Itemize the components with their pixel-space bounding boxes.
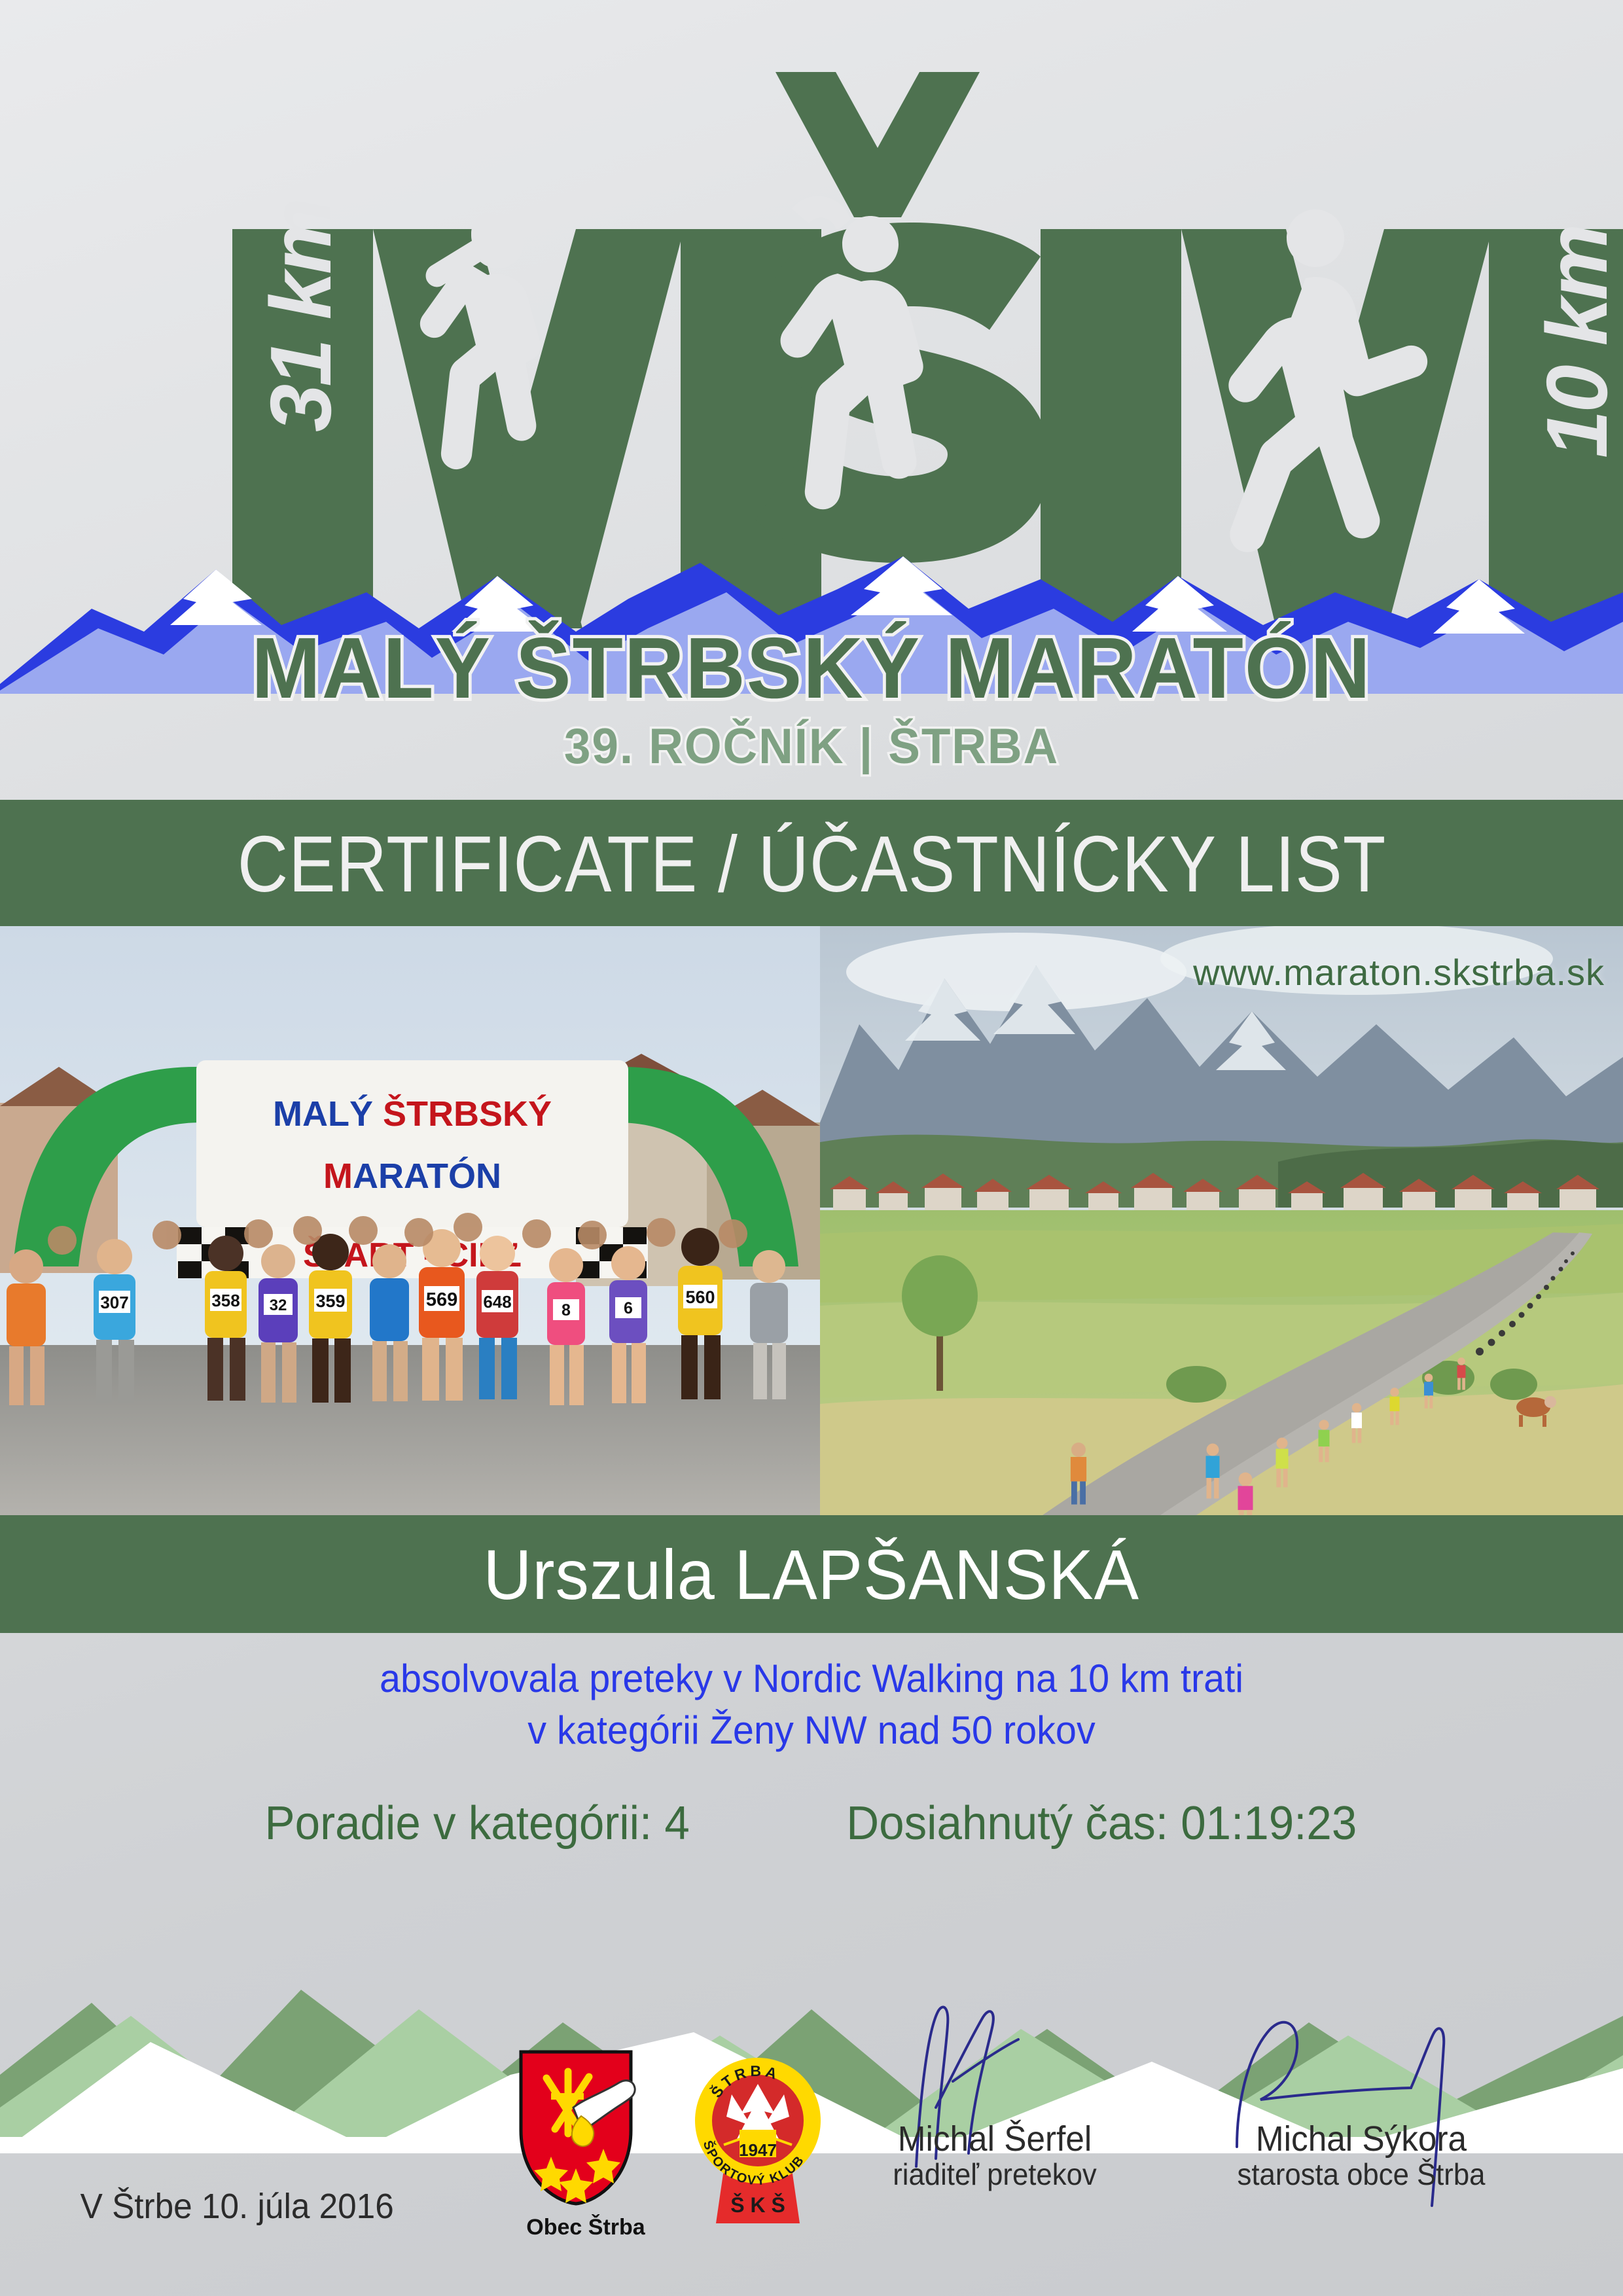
logo-title-sub: 39. ROČNÍK | ŠTRBA [33, 721, 1591, 773]
svg-text:10 km: 10 km [1529, 226, 1623, 458]
logo-title-main: MALÝ ŠTRBSKÝ MARATÓN [33, 625, 1591, 711]
club-abbr: Š K Š [730, 2193, 785, 2217]
sports-club-emblem: ŠTRBA ŠPORTOVÝ KLUB 1947 Š K Š [686, 2043, 836, 2230]
event-logo: 31 km 10 km [0, 0, 1623, 785]
svg-text:358: 358 [211, 1291, 240, 1310]
signature-role-mayor: starosta obce Štrba [1212, 2158, 1510, 2191]
photo-race-start: MALÝ ŠTRBSKÝ MARATÓN ŠTART - CIEĽ [0, 926, 820, 1515]
participant-name-band: Urszula LAPŠANSKÁ [0, 1515, 1623, 1633]
logo-letter-s-middle [755, 72, 1050, 563]
svg-text:6: 6 [624, 1299, 633, 1318]
achievement-line-2: v kategórii Ženy NW nad 50 rokov [33, 1704, 1591, 1756]
logo-title: MALÝ ŠTRBSKÝ MARATÓN 39. ROČNÍK | ŠTRBA [0, 625, 1623, 773]
svg-text:MALÝ ŠTRBSKÝ: MALÝ ŠTRBSKÝ [273, 1094, 552, 1134]
signature-block-director: Michal Šerfel riaditeľ pretekov [851, 2121, 1139, 2191]
svg-text:307: 307 [100, 1293, 128, 1312]
signature-name-mayor: Michal Sýkora [1212, 2121, 1510, 2158]
issue-date: V Štrbe 10. júla 2016 [80, 2186, 394, 2227]
svg-text:31 km: 31 km [253, 200, 349, 432]
finish-time: Dosiahnutý čas: 01:19:23 [846, 1797, 1357, 1850]
signature-block-mayor: Michal Sýkora starosta obce Štrba [1204, 2121, 1518, 2191]
achievement-text: absolvovala preteky v Nordic Walking na … [0, 1653, 1623, 1756]
svg-text:569: 569 [426, 1289, 457, 1310]
svg-text:MARATÓN: MARATÓN [323, 1157, 501, 1196]
achievement-line-1: absolvovala preteky v Nordic Walking na … [33, 1653, 1591, 1704]
signature-name-director: Michal Šerfel [858, 2121, 1132, 2158]
photo-course-landscape: www.maraton.skstrba.sk [820, 926, 1623, 1515]
svg-text:560: 560 [685, 1287, 715, 1307]
footer: V Štrbe 10. júla 2016 Obec Štrb [0, 2121, 1623, 2296]
svg-text:648: 648 [483, 1292, 511, 1312]
signature-role-director: riaditeľ pretekov [858, 2158, 1132, 2191]
category-rank: Poradie v kategórii: 4 [264, 1797, 689, 1850]
certificate-title-band: CERTIFICATE / ÚČASTNÍCKY LIST [0, 800, 1623, 927]
certificate-title: CERTIFICATE / ÚČASTNÍCKY LIST [237, 824, 1386, 904]
photo-strip: MALÝ ŠTRBSKÝ MARATÓN ŠTART - CIEĽ [0, 926, 1623, 1515]
svg-text:32: 32 [270, 1297, 287, 1314]
logo-letter-m-right: 10 km [1041, 209, 1623, 628]
certificate-page: 31 km 10 km [0, 0, 1623, 2296]
club-year: 1947 [739, 2140, 777, 2160]
svg-text:8: 8 [562, 1301, 571, 1319]
obec-strba-emblem: Obec Štrba [510, 2045, 661, 2240]
obec-strba-caption: Obec Štrba [510, 2215, 661, 2240]
logo-letter-m-left: 31 km [232, 200, 821, 628]
svg-text:359: 359 [315, 1291, 345, 1311]
participant-name: Urszula LAPŠANSKÁ [484, 1534, 1140, 1615]
results-row: Poradie v kategórii: 4 Dosiahnutý čas: 0… [0, 1797, 1623, 1850]
website-url: www.maraton.skstrba.sk [1193, 951, 1605, 994]
